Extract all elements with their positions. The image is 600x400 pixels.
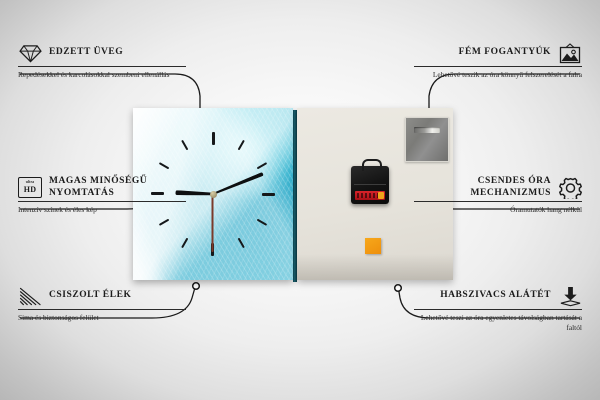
connector-metal-handles bbox=[429, 74, 580, 112]
callout-tempered-glass: EDZETT ÜVEG Repedésekkel és karcolásokka… bbox=[18, 42, 186, 80]
callout-description: Óramutatók hang nélkül bbox=[414, 205, 582, 215]
clock-center-cap bbox=[210, 191, 217, 198]
callout-title: CSENDES ÓRA MECHANIZMUS bbox=[414, 176, 551, 199]
callout-high-quality-print: ultra HD MAGAS MINŐSÉGŰ NYOMTATÁS Intenz… bbox=[18, 176, 186, 215]
callout-foam-spacer: HABSZIVACS ALÁTÉT Lehetővé teszi az óra … bbox=[414, 285, 582, 332]
callout-divider bbox=[18, 66, 186, 67]
callout-description: Sima és biztonságos felület bbox=[18, 313, 186, 323]
ultra-hd-icon: ultra HD bbox=[18, 177, 42, 199]
callout-header: ultra HD MAGAS MINŐSÉGŰ NYOMTATÁS bbox=[18, 176, 186, 199]
callout-divider bbox=[414, 309, 582, 310]
beveled-edge-icon bbox=[18, 285, 42, 307]
callout-title: FÉM FOGANTYÚK bbox=[459, 47, 551, 59]
callout-title: EDZETT ÜVEG bbox=[49, 47, 123, 59]
callout-header: CSENDES ÓRA MECHANIZMUS bbox=[414, 176, 582, 199]
metal-hanger bbox=[405, 117, 449, 162]
mechanism-loop bbox=[362, 159, 382, 171]
callout-title: CSISZOLT ÉLEK bbox=[49, 290, 131, 302]
callout-header: HABSZIVACS ALÁTÉT bbox=[414, 285, 582, 307]
callout-divider bbox=[414, 66, 582, 67]
battery-label bbox=[357, 193, 379, 198]
back-panel-shadow bbox=[297, 254, 453, 280]
callout-polished-edges: CSISZOLT ÉLEK Sima és biztonságos felüle… bbox=[18, 285, 186, 323]
callout-header: EDZETT ÜVEG bbox=[18, 42, 186, 64]
clock-mechanism bbox=[351, 166, 389, 204]
callout-description: Lehetővé teszik az óra könnyű felszerelé… bbox=[414, 70, 582, 80]
connector-dot-foam-spacer bbox=[395, 285, 402, 292]
callout-metal-handles: FÉM FOGANTYÚK Lehetővé teszik az óra kön… bbox=[414, 42, 582, 80]
hanger-slot bbox=[414, 127, 440, 133]
callout-description: Lehetővé teszi az óra egyenletes távolsá… bbox=[414, 313, 582, 332]
callout-divider bbox=[18, 201, 186, 202]
callout-description: Repedésekkel és karcolásokkal szembeni e… bbox=[18, 70, 186, 80]
diamond-icon bbox=[18, 42, 42, 64]
battery bbox=[355, 191, 385, 200]
infographic-canvas: EDZETT ÜVEG Repedésekkel és karcolásokka… bbox=[0, 0, 600, 400]
foam-pad-arrow-icon bbox=[558, 285, 582, 307]
connector-tempered-glass bbox=[20, 74, 200, 112]
callout-title: MAGAS MINŐSÉGŰ NYOMTATÁS bbox=[49, 176, 186, 199]
connector-dot-polished-edges bbox=[193, 283, 200, 290]
callout-description: Intenzív színek és éles kép bbox=[18, 205, 186, 215]
callout-header: CSISZOLT ÉLEK bbox=[18, 285, 186, 307]
callout-silent-mechanism: CSENDES ÓRA MECHANIZMUS Óramutatók hang … bbox=[414, 176, 582, 215]
callout-divider bbox=[414, 201, 582, 202]
mechanism-seam bbox=[354, 184, 386, 185]
battery-terminal bbox=[378, 192, 384, 199]
callout-title: HABSZIVACS ALÁTÉT bbox=[440, 290, 551, 302]
foam-pad bbox=[365, 238, 381, 254]
callout-header: FÉM FOGANTYÚK bbox=[414, 42, 582, 64]
gear-icon bbox=[558, 177, 582, 199]
callout-divider bbox=[18, 309, 186, 310]
picture-frame-hanger-icon bbox=[558, 42, 582, 64]
